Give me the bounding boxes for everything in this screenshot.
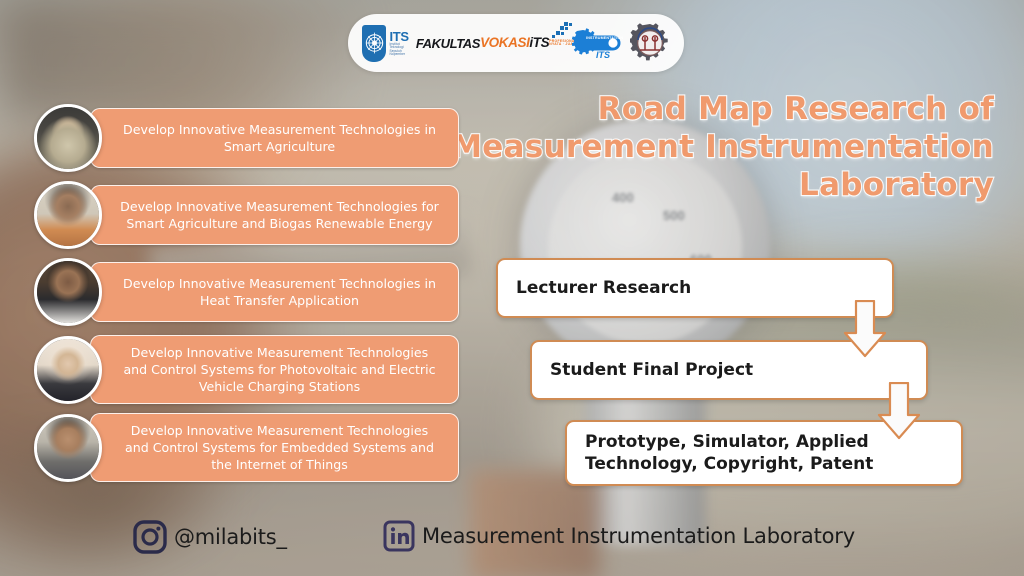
roadmap-list: Develop Innovative Measurement Technolog…: [34, 104, 459, 491]
instrumentation-caption: INSTRUMENTATION: [586, 36, 623, 40]
slide-canvas: 400 500 600: [0, 0, 1024, 576]
roadmap-item-label: Develop Innovative Measurement Technolog…: [117, 198, 442, 232]
avatar-researcher-2: [34, 181, 102, 249]
institution-logo-bar: ITS Institut Teknologi Sepuluh Nopember …: [348, 14, 684, 72]
instagram-link[interactable]: @milabits_: [133, 520, 287, 554]
flow-step-2-label: Student Final Project: [550, 360, 753, 380]
avatar-researcher-5: [34, 414, 102, 482]
gear-emblem-logo: [630, 23, 670, 63]
title-line-2: Measurement Instrumentation: [374, 128, 994, 166]
instrumentation-its-acronym: ITS: [596, 50, 610, 60]
title-line-3: Laboratory: [374, 166, 994, 204]
linkedin-icon[interactable]: [383, 520, 415, 552]
roadmap-item-band: Develop Innovative Measurement Technolog…: [90, 185, 459, 245]
flow-arrow-1-icon: [843, 300, 887, 358]
instagram-icon[interactable]: [133, 520, 167, 554]
roadmap-item-band: Develop Innovative Measurement Technolog…: [90, 335, 459, 404]
roadmap-item[interactable]: Develop Innovative Measurement Technolog…: [34, 181, 459, 249]
avatar-researcher-3: [34, 258, 102, 326]
fv-pixel-dots-icon: [552, 22, 572, 43]
its-shield-icon: [362, 25, 386, 62]
instagram-handle: @milabits_: [174, 525, 287, 549]
flow-step-lecturer-research[interactable]: Lecturer Research: [496, 258, 894, 318]
avatar-researcher-1: [34, 104, 102, 172]
fv-line1: FAKULTAS: [416, 37, 480, 50]
avatar-researcher-4: [34, 336, 102, 404]
its-logo: ITS Institut Teknologi Sepuluh Nopember: [362, 25, 416, 62]
fv-line2-suffix: iTS: [529, 35, 549, 50]
roadmap-item-label: Develop Innovative Measurement Technolog…: [117, 121, 442, 155]
linkedin-page-name: Measurement Instrumentation Laboratory: [422, 524, 855, 548]
flow-step-3-label-line1: Prototype, Simulator, Applied: [585, 431, 873, 453]
gear-emblem-icon: [630, 23, 670, 63]
roadmap-item-band: Develop Innovative Measurement Technolog…: [90, 108, 459, 168]
roadmap-item-label: Develop Innovative Measurement Technolog…: [117, 344, 442, 395]
page-title: Road Map Research of Measurement Instrum…: [374, 90, 994, 204]
roadmap-item[interactable]: Develop Innovative Measurement Technolog…: [34, 104, 459, 172]
flow-arrow-2-icon: [877, 382, 921, 440]
footer-social-bar: @milabits_ Measurement Instrumentation L…: [0, 520, 1024, 560]
roadmap-item-label: Develop Innovative Measurement Technolog…: [117, 422, 442, 473]
flow-step-3-label-line2: Technology, Copyright, Patent: [585, 453, 873, 475]
roadmap-item-band: Develop Innovative Measurement Technolog…: [90, 413, 459, 482]
flow-step-1-label: Lecturer Research: [516, 278, 691, 298]
title-line-1: Road Map Research of: [374, 90, 994, 128]
roadmap-item[interactable]: Develop Innovative Measurement Technolog…: [34, 335, 459, 404]
its-subtitle-3: Sepuluh Nopember: [389, 50, 415, 56]
instrumentation-its-logo: INSTRUMENTATION ITS: [572, 23, 630, 63]
fv-line2: VOKASI: [480, 35, 529, 50]
roadmap-item-band: Develop Innovative Measurement Technolog…: [90, 262, 459, 322]
roadmap-item-label: Develop Innovative Measurement Technolog…: [117, 275, 442, 309]
roadmap-item[interactable]: Develop Innovative Measurement Technolog…: [34, 413, 459, 482]
linkedin-link[interactable]: Measurement Instrumentation Laboratory: [383, 520, 855, 552]
roadmap-item[interactable]: Develop Innovative Measurement Technolog…: [34, 258, 459, 326]
